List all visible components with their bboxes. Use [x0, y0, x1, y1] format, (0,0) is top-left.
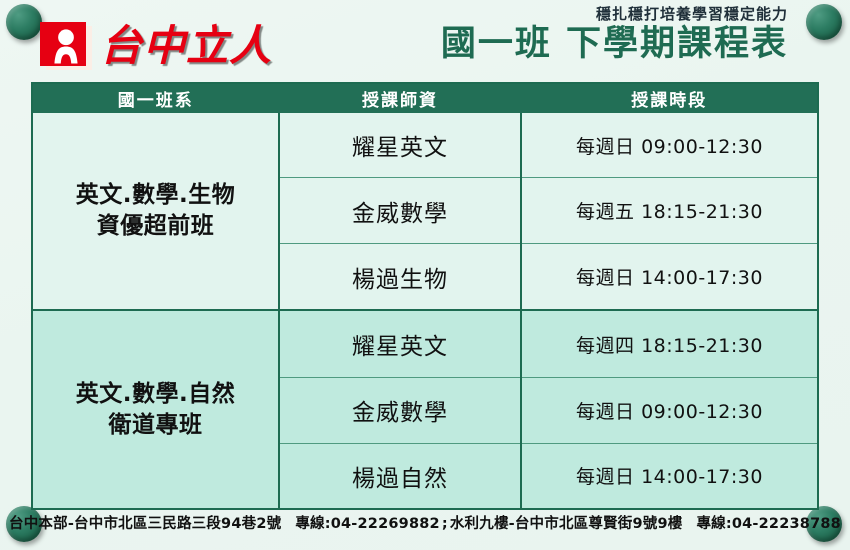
poster-page: 台中立人 穩扎穩打培養學習穩定能力 國一班 下學期課程表 國一班系 授課師資 授… [0, 0, 850, 550]
group-label-cell-2: 英文.數學.自然 衛道專班 [33, 310, 279, 508]
branch1-address: 台中本部-台中市北區三民路三段94巷2號 [9, 516, 281, 532]
teacher-cell: 金威數學 [279, 377, 521, 443]
schedule-table-container: 國一班系 授課師資 授課時段 英文.數學.生物 資優超前班 耀星英文 每週日 0… [31, 82, 819, 510]
group-label-line1: 英文.數學.生物 [76, 182, 235, 208]
table-header: 國一班系 授課師資 授課時段 [33, 84, 817, 113]
poster-header: 台中立人 穩扎穩打培養學習穩定能力 國一班 下學期課程表 [0, 0, 850, 82]
branch1-phone: 專線:04-22269882 [295, 516, 440, 532]
table-header-row: 國一班系 授課師資 授課時段 [33, 84, 817, 113]
group-label-line2: 衛道專班 [109, 412, 203, 438]
timeslot-cell: 每週五 18:15-21:30 [521, 178, 817, 244]
teacher-cell: 耀星英文 [279, 113, 521, 178]
branch2-address: 水利九樓-台中市北區尊賢街9號9樓 [450, 516, 683, 532]
group-label-line1: 英文.數學.自然 [76, 381, 235, 407]
timeslot-cell: 每週日 09:00-12:30 [521, 113, 817, 178]
schedule-table: 國一班系 授課師資 授課時段 英文.數學.生物 資優超前班 耀星英文 每週日 0… [33, 84, 817, 508]
column-header-timeslot: 授課時段 [521, 84, 817, 113]
footer-separator: ; [440, 516, 450, 532]
teacher-cell: 金威數學 [279, 178, 521, 244]
teacher-cell: 楊過自然 [279, 443, 521, 508]
column-header-teacher: 授課師資 [279, 84, 521, 113]
title-block: 穩扎穩打培養學習穩定能力 國一班 下學期課程表 [441, 4, 788, 64]
timeslot-cell: 每週日 09:00-12:30 [521, 377, 817, 443]
timeslot-cell: 每週日 14:00-17:30 [521, 244, 817, 311]
brand-logo: 台中立人 [40, 22, 272, 70]
timeslot-cell: 每週日 14:00-17:30 [521, 443, 817, 508]
logo-person-glyph [40, 22, 92, 70]
branch2-phone: 專線:04-22238788 [696, 516, 841, 532]
person-in-red-square-icon [40, 22, 92, 70]
teacher-cell: 耀星英文 [279, 310, 521, 377]
column-header-class: 國一班系 [33, 84, 279, 113]
page-title: 國一班 下學期課程表 [441, 25, 788, 64]
table-body: 英文.數學.生物 資優超前班 耀星英文 每週日 09:00-12:30 金威數學… [33, 113, 817, 508]
table-row: 英文.數學.自然 衛道專班 耀星英文 每週四 18:15-21:30 [33, 310, 817, 377]
table-row: 英文.數學.生物 資優超前班 耀星英文 每週日 09:00-12:30 [33, 113, 817, 178]
slogan-text: 穩扎穩打培養學習穩定能力 [441, 4, 788, 24]
group-label-line2: 資優超前班 [97, 213, 215, 239]
footer-contact-info: 台中本部-台中市北區三民路三段94巷2號專線:04-22269882;水利九樓-… [0, 512, 850, 533]
brand-name: 台中立人 [100, 25, 272, 67]
teacher-cell: 楊過生物 [279, 244, 521, 311]
group-label-cell-1: 英文.數學.生物 資優超前班 [33, 113, 279, 310]
timeslot-cell: 每週四 18:15-21:30 [521, 310, 817, 377]
